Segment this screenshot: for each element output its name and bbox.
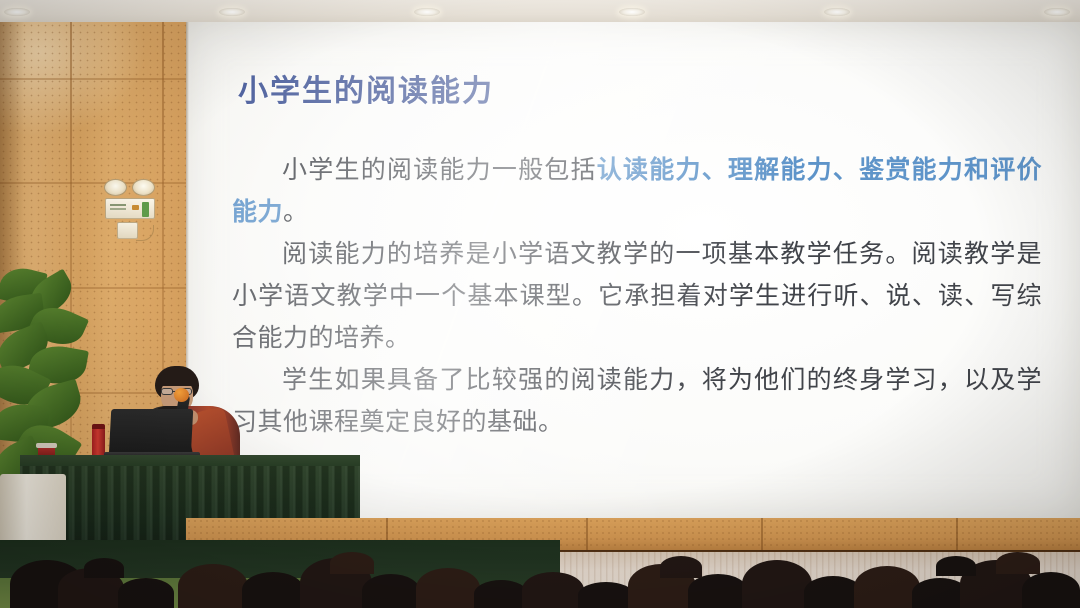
- lecture-hall-scene: 小学生的阅读能力 小学生的阅读能力一般包括认读能力、理解能力、鉴赏能力和评价能力…: [0, 0, 1080, 608]
- slide-paragraph-2: 阅读能力的培养是小学语文教学的一项基本教学任务。阅读教学是小学语文教学中一个基本…: [232, 234, 1042, 360]
- emergency-green-indicator-icon: [142, 202, 149, 217]
- ceiling-downlight-icon: [4, 8, 30, 16]
- audience-head: [578, 582, 634, 608]
- emergency-cord: [136, 225, 154, 241]
- slide-title: 小学生的阅读能力: [238, 66, 494, 110]
- emergency-label: [110, 204, 126, 206]
- slide-paragraph-3: 学生如果具备了比较强的阅读能力，将为他们的终身学习，以及学习其他课程奠定良好的基…: [232, 360, 1042, 444]
- ceiling-downlight-icon: [619, 8, 645, 16]
- audience-head: [84, 558, 124, 578]
- audience-head: [688, 574, 748, 608]
- band-seam: [586, 518, 588, 552]
- paragraph-1-plain-prefix: 小学生的阅读能力一般包括: [282, 157, 597, 184]
- ceiling-downlight-icon: [414, 8, 440, 16]
- band-seam: [761, 518, 763, 552]
- audience-head: [936, 556, 976, 576]
- ceiling-downlight-icon: [219, 8, 245, 16]
- paragraph-1-plain-suffix: 。: [283, 199, 309, 226]
- audience-head: [742, 560, 812, 608]
- presenter-fringe: [158, 374, 196, 386]
- laptop-screen: [109, 409, 194, 457]
- ceiling-downlight-icon: [1044, 8, 1070, 16]
- microphone-head-icon: [174, 388, 189, 402]
- audience-head: [242, 572, 304, 608]
- emergency-lamp-icon: [132, 179, 155, 196]
- audience-head: [474, 580, 528, 608]
- audience-head: [660, 556, 702, 578]
- wall-seam: [0, 182, 190, 184]
- audience-head: [362, 574, 420, 608]
- projection-screen: 小学生的阅读能力 小学生的阅读能力一般包括认读能力、理解能力、鉴赏能力和评价能力…: [186, 22, 1080, 518]
- audience-head: [1022, 572, 1080, 608]
- audience-head: [416, 568, 480, 608]
- slide-paragraph-1: 小学生的阅读能力一般包括认读能力、理解能力、鉴赏能力和评价能力。: [232, 150, 1042, 234]
- audience-head: [996, 552, 1040, 574]
- audience-head: [118, 578, 174, 608]
- emergency-amber-indicator-icon: [132, 205, 139, 210]
- emergency-light-body: [105, 198, 155, 219]
- audience-head: [522, 572, 584, 608]
- ceiling-downlight-icon: [824, 8, 850, 16]
- wall-seam: [0, 78, 190, 80]
- slide-content: 小学生的阅读能力 小学生的阅读能力一般包括认读能力、理解能力、鉴赏能力和评价能力…: [186, 22, 1080, 518]
- thermos-cap: [92, 424, 105, 429]
- band-seam: [956, 518, 958, 552]
- glasses-icon: [161, 388, 173, 395]
- cup-lid: [36, 443, 57, 448]
- audience-head: [330, 552, 374, 574]
- audience-head: [178, 564, 248, 608]
- emergency-lamp-icon: [104, 179, 127, 196]
- emergency-junction-box: [117, 222, 138, 239]
- emergency-light-fixture: [104, 179, 156, 241]
- slide-body: 小学生的阅读能力一般包括认读能力、理解能力、鉴赏能力和评价能力。 阅读能力的培养…: [232, 150, 1042, 444]
- audience-head: [854, 566, 920, 608]
